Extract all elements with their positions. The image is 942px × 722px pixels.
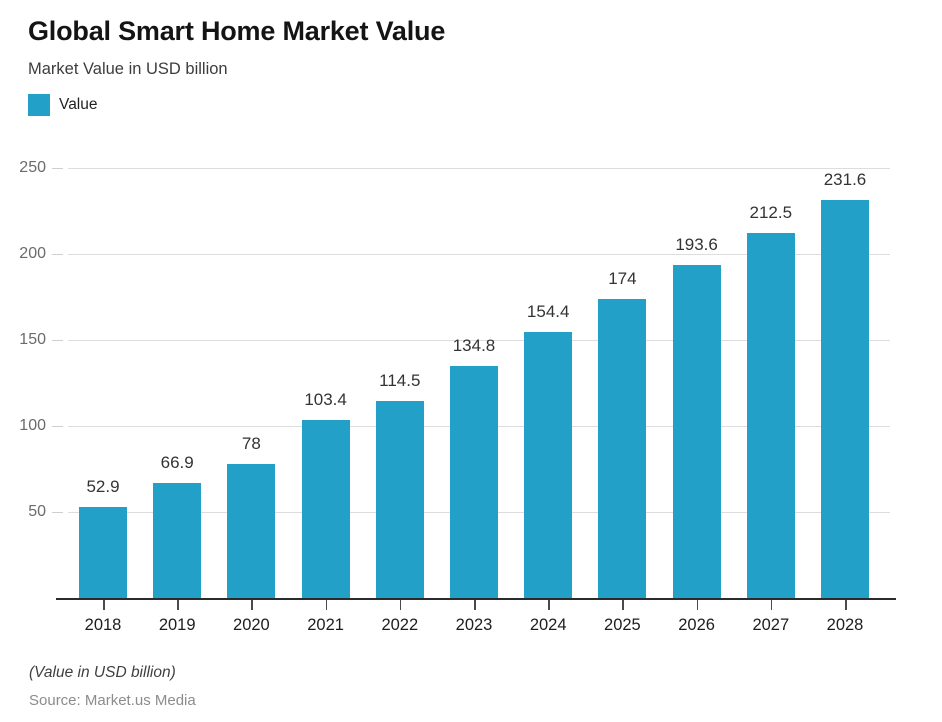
x-axis-tick-mark xyxy=(474,600,476,610)
x-axis-tick-label: 2027 xyxy=(729,615,813,635)
x-axis-tick-mark xyxy=(771,600,773,610)
x-axis-tick-mark xyxy=(103,600,105,610)
bar[interactable] xyxy=(376,401,424,598)
y-axis-tick-label: 200 xyxy=(0,246,46,262)
bar-value-label: 154.4 xyxy=(498,302,598,322)
y-axis-tick-mark xyxy=(52,512,63,513)
bar-value-label: 134.8 xyxy=(424,336,524,356)
bar[interactable] xyxy=(450,366,498,598)
x-axis-tick-mark xyxy=(177,600,179,610)
footer-note: (Value in USD billion) xyxy=(29,662,196,683)
bar[interactable] xyxy=(747,233,795,599)
bar-value-label: 103.4 xyxy=(276,390,376,410)
chart-footer: (Value in USD billion) Source: Market.us… xyxy=(29,662,196,711)
bar[interactable] xyxy=(673,265,721,598)
bar-value-label: 52.9 xyxy=(53,477,153,497)
chart-card: Global Smart Home Market Value Market Va… xyxy=(0,0,942,722)
y-axis-tick-mark xyxy=(52,168,63,169)
bar[interactable] xyxy=(302,420,350,598)
x-axis-tick-label: 2026 xyxy=(655,615,739,635)
bar[interactable] xyxy=(821,200,869,598)
x-axis-tick-label: 2018 xyxy=(61,615,145,635)
x-axis-tick-mark xyxy=(697,600,699,610)
bar-value-label: 212.5 xyxy=(721,203,821,223)
bar[interactable] xyxy=(79,507,127,598)
bar-value-label: 78 xyxy=(201,434,301,454)
x-axis-tick-mark xyxy=(548,600,550,610)
x-axis-tick-label: 2021 xyxy=(284,615,368,635)
bar-value-label: 66.9 xyxy=(127,453,227,473)
x-axis-tick-mark xyxy=(622,600,624,610)
y-axis-tick-mark xyxy=(52,426,63,427)
x-axis-tick-label: 2025 xyxy=(580,615,664,635)
bar[interactable] xyxy=(153,483,201,598)
bar[interactable] xyxy=(598,299,646,598)
x-axis-tick-mark xyxy=(251,600,253,610)
y-axis-tick-label: 50 xyxy=(0,504,46,520)
footer-source: Source: Market.us Media xyxy=(29,690,196,711)
x-axis-tick-label: 2022 xyxy=(358,615,442,635)
plot-area: 5010015020025052.9201866.92019782020103.… xyxy=(0,0,942,722)
y-axis-tick-mark xyxy=(52,340,63,341)
y-axis-tick-label: 250 xyxy=(0,160,46,176)
x-axis-tick-label: 2023 xyxy=(432,615,516,635)
y-axis-tick-mark xyxy=(52,254,63,255)
x-axis-tick-label: 2020 xyxy=(209,615,293,635)
x-axis-tick-mark xyxy=(400,600,402,610)
y-axis-tick-label: 100 xyxy=(0,418,46,434)
x-axis-tick-label: 2028 xyxy=(803,615,887,635)
bar-value-label: 114.5 xyxy=(350,371,450,391)
x-axis-tick-mark xyxy=(326,600,328,610)
bar-value-label: 231.6 xyxy=(795,170,895,190)
bar-value-label: 193.6 xyxy=(647,235,747,255)
x-axis-tick-label: 2019 xyxy=(135,615,219,635)
bar[interactable] xyxy=(524,332,572,598)
bar-value-label: 174 xyxy=(572,269,672,289)
x-axis-tick-mark xyxy=(845,600,847,610)
x-axis-line xyxy=(56,598,896,600)
x-axis-tick-label: 2024 xyxy=(506,615,590,635)
bar[interactable] xyxy=(227,464,275,598)
gridline xyxy=(68,168,890,169)
y-axis-tick-label: 150 xyxy=(0,332,46,348)
